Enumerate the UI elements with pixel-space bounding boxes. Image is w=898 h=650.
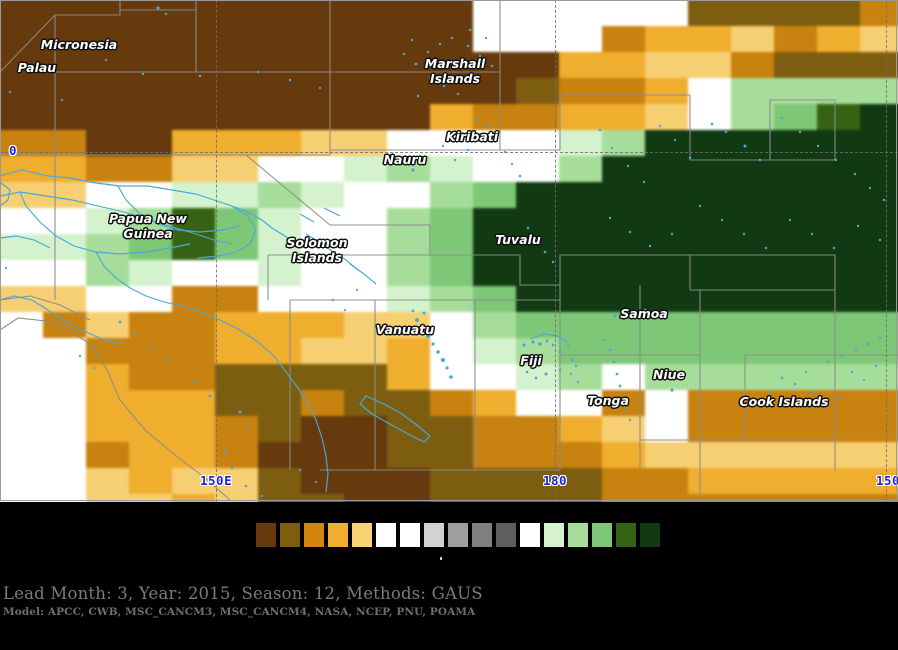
- raster-cell: [602, 156, 646, 183]
- raster-cell: [43, 130, 87, 157]
- raster-cell: [344, 78, 388, 105]
- raster-cell: [473, 78, 517, 105]
- raster-cell: [473, 26, 517, 53]
- raster-cell: [215, 494, 259, 502]
- raster-cell: [430, 130, 474, 157]
- raster-cell: [43, 468, 87, 495]
- legend-swatch-0: [255, 522, 277, 548]
- raster-cell: [172, 130, 216, 157]
- legend-swatch-16: [639, 522, 661, 548]
- raster-cell: [559, 104, 603, 131]
- raster-cell: [172, 468, 216, 495]
- raster-cell: [0, 130, 44, 157]
- raster-cell: [817, 52, 861, 79]
- legend-swatch-10: [495, 522, 517, 548]
- raster-cell: [344, 52, 388, 79]
- raster-cell: [258, 78, 302, 105]
- raster-cell: [817, 442, 861, 469]
- raster-cell: [129, 468, 173, 495]
- legend-swatch-row: [255, 522, 661, 548]
- raster-cell: [215, 104, 259, 131]
- raster-cell: [774, 260, 818, 287]
- raster-cell: [344, 390, 388, 417]
- raster-cell: [43, 52, 87, 79]
- raster-cell: [516, 208, 560, 235]
- raster-cell: [43, 364, 87, 391]
- raster-cell: [602, 416, 646, 443]
- raster-cell: [602, 260, 646, 287]
- raster-cell: [86, 338, 130, 365]
- raster-cell: [731, 130, 775, 157]
- raster-cell: [516, 156, 560, 183]
- raster-cell: [86, 286, 130, 313]
- raster-cell: [258, 156, 302, 183]
- raster-cell: [430, 78, 474, 105]
- raster-cell: [215, 390, 259, 417]
- raster-cell: [43, 286, 87, 313]
- raster-cell: [731, 416, 775, 443]
- raster-cell: [817, 338, 861, 365]
- raster-cell: [387, 208, 431, 235]
- raster-cell: [602, 208, 646, 235]
- raster-cell: [774, 364, 818, 391]
- raster-cell: [645, 156, 689, 183]
- raster-cell: [559, 286, 603, 313]
- raster-cell: [0, 338, 44, 365]
- raster-cell: [473, 52, 517, 79]
- raster-cell: [172, 312, 216, 339]
- raster-cell: [215, 260, 259, 287]
- raster-cell: [602, 312, 646, 339]
- raster-cell: [172, 364, 216, 391]
- raster-cell: [344, 416, 388, 443]
- raster-cell: [301, 390, 345, 417]
- raster-cell: [387, 390, 431, 417]
- raster-cell: [473, 364, 517, 391]
- raster-cell: [688, 494, 732, 502]
- raster-cell: [172, 234, 216, 261]
- seasonal-forecast-map-view: 150E1801500 MicronesiaPalauMarshallIslan…: [0, 0, 898, 650]
- raster-cell: [817, 390, 861, 417]
- raster-cell: [473, 442, 517, 469]
- raster-cell: [387, 494, 431, 502]
- raster-cell: [473, 260, 517, 287]
- raster-cell: [688, 52, 732, 79]
- raster-cell: [731, 390, 775, 417]
- raster-cell: [774, 130, 818, 157]
- raster-cell: [602, 104, 646, 131]
- raster-cell: [602, 26, 646, 53]
- raster-cell: [559, 338, 603, 365]
- raster-cell: [0, 156, 44, 183]
- raster-cell: [301, 208, 345, 235]
- raster-cell: [645, 312, 689, 339]
- legend-swatch-9: [471, 522, 493, 548]
- raster-cell: [473, 104, 517, 131]
- raster-cell: [731, 104, 775, 131]
- raster-cell: [301, 0, 345, 27]
- raster-cell: [688, 468, 732, 495]
- raster-cell: [516, 130, 560, 157]
- raster-cell: [602, 286, 646, 313]
- raster-cell: [817, 364, 861, 391]
- raster-cell: [731, 364, 775, 391]
- raster-cell: [817, 130, 861, 157]
- raster-cell: [645, 0, 689, 27]
- raster-cell: [215, 416, 259, 443]
- raster-cell: [559, 312, 603, 339]
- raster-cell: [86, 26, 130, 53]
- raster-cell: [43, 338, 87, 365]
- raster-cell: [301, 416, 345, 443]
- raster-cell: [860, 234, 898, 261]
- raster-cell: [688, 234, 732, 261]
- raster-cell: [516, 182, 560, 209]
- raster-cell: [602, 78, 646, 105]
- raster-cell: [43, 104, 87, 131]
- raster-cell: [817, 416, 861, 443]
- raster-cell: [215, 0, 259, 27]
- raster-cell: [387, 78, 431, 105]
- raster-cell: [774, 234, 818, 261]
- raster-cell: [860, 312, 898, 339]
- raster-cell: [473, 312, 517, 339]
- raster-cell: [387, 26, 431, 53]
- raster-cell: [129, 442, 173, 469]
- raster-cell: [817, 156, 861, 183]
- raster-cell: [731, 312, 775, 339]
- raster-cell: [344, 234, 388, 261]
- raster-cell: [817, 78, 861, 105]
- raster-cell: [129, 52, 173, 79]
- raster-cell: [473, 468, 517, 495]
- raster-cell: [129, 390, 173, 417]
- raster-cell: [774, 78, 818, 105]
- raster-cell: [430, 208, 474, 235]
- raster-cell: [172, 26, 216, 53]
- raster-cell: [215, 468, 259, 495]
- raster-cell: [817, 260, 861, 287]
- raster-cell: [559, 494, 603, 502]
- raster-cell: [129, 286, 173, 313]
- raster-cell: [0, 182, 44, 209]
- raster-cell: [172, 78, 216, 105]
- raster-cell: [731, 0, 775, 27]
- raster-cell: [301, 26, 345, 53]
- raster-cell: [774, 338, 818, 365]
- raster-cell: [774, 208, 818, 235]
- raster-cell: [43, 156, 87, 183]
- raster-cell: [215, 182, 259, 209]
- raster-cell: [645, 468, 689, 495]
- raster-cell: [516, 416, 560, 443]
- raster-cell: [172, 390, 216, 417]
- raster-cell: [258, 364, 302, 391]
- raster-cell: [0, 390, 44, 417]
- raster-cell: [258, 390, 302, 417]
- legend-swatch-15: [615, 522, 637, 548]
- raster-cell: [129, 0, 173, 27]
- raster-cell: [688, 286, 732, 313]
- raster-cell: [43, 182, 87, 209]
- raster-cell: [645, 494, 689, 502]
- raster-cell: [516, 52, 560, 79]
- raster-cell: [0, 468, 44, 495]
- raster-cell: [645, 364, 689, 391]
- raster-cell: [86, 104, 130, 131]
- raster-cell: [43, 260, 87, 287]
- raster-cell: [344, 468, 388, 495]
- raster-cell: [43, 442, 87, 469]
- raster-cell: [731, 234, 775, 261]
- raster-cell: [473, 130, 517, 157]
- raster-cell: [387, 0, 431, 27]
- raster-cell: [559, 78, 603, 105]
- raster-cell: [215, 208, 259, 235]
- raster-cell: [0, 234, 44, 261]
- raster-cell: [301, 364, 345, 391]
- raster-cell: [602, 0, 646, 27]
- raster-cell: [559, 260, 603, 287]
- raster-cell: [559, 156, 603, 183]
- raster-cell: [344, 208, 388, 235]
- raster-cell: [43, 208, 87, 235]
- raster-cell: [43, 26, 87, 53]
- legend-swatch-5: [375, 522, 397, 548]
- raster-cell: [215, 26, 259, 53]
- raster-cell: [559, 0, 603, 27]
- raster-cell: [387, 52, 431, 79]
- raster-cell: [473, 416, 517, 443]
- raster-cell: [86, 208, 130, 235]
- legend-swatch-13: [567, 522, 589, 548]
- raster-cell: [215, 442, 259, 469]
- raster-cell: [688, 78, 732, 105]
- raster-cell: [129, 104, 173, 131]
- raster-cell: [774, 494, 818, 502]
- raster-cell: [258, 182, 302, 209]
- raster-cell: [602, 130, 646, 157]
- raster-cell: [387, 312, 431, 339]
- raster-cell: [0, 416, 44, 443]
- raster-cell: [860, 104, 898, 131]
- raster-cell: [215, 78, 259, 105]
- raster-cell: [172, 260, 216, 287]
- raster-cell: [645, 104, 689, 131]
- raster-cell: [258, 104, 302, 131]
- raster-cell: [516, 468, 560, 495]
- raster-cell: [43, 416, 87, 443]
- raster-cell: [860, 156, 898, 183]
- raster-cell: [215, 286, 259, 313]
- raster-cell: [0, 312, 44, 339]
- raster-cell: [688, 156, 732, 183]
- raster-cell: [0, 52, 44, 79]
- raster-cell: [86, 78, 130, 105]
- legend-swatch-14: [591, 522, 613, 548]
- raster-cell: [473, 286, 517, 313]
- raster-cell: [817, 182, 861, 209]
- raster-cell: [129, 182, 173, 209]
- raster-cell: [688, 260, 732, 287]
- legend-swatch-2: [303, 522, 325, 548]
- raster-cell: [172, 286, 216, 313]
- raster-cell: [817, 468, 861, 495]
- raster-cell: [473, 234, 517, 261]
- raster-cell: [215, 312, 259, 339]
- raster-cell: [301, 286, 345, 313]
- raster-cell: [258, 130, 302, 157]
- raster-cell: [258, 234, 302, 261]
- raster-cell: [602, 234, 646, 261]
- raster-cell: [344, 364, 388, 391]
- raster-cell: [516, 0, 560, 27]
- raster-cell: [0, 286, 44, 313]
- raster-cell: [688, 312, 732, 339]
- raster-cell: [774, 312, 818, 339]
- raster-cell: [731, 338, 775, 365]
- raster-cell: [731, 208, 775, 235]
- raster-cell: [688, 130, 732, 157]
- raster-cell: [774, 286, 818, 313]
- raster-cell: [258, 416, 302, 443]
- raster-cell: [516, 260, 560, 287]
- raster-cell: [0, 78, 44, 105]
- raster-cell: [473, 494, 517, 502]
- raster-cell: [688, 208, 732, 235]
- raster-cell: [301, 156, 345, 183]
- raster-cell: [301, 130, 345, 157]
- raster-cell: [0, 364, 44, 391]
- raster-cell: [387, 442, 431, 469]
- raster-cell: [387, 234, 431, 261]
- raster-cell: [645, 208, 689, 235]
- raster-cell: [258, 0, 302, 27]
- raster-cell: [860, 442, 898, 469]
- raster-cell: [43, 78, 87, 105]
- raster-cell: [602, 182, 646, 209]
- raster-cell: [645, 182, 689, 209]
- raster-cell: [43, 0, 87, 27]
- raster-cell: [387, 468, 431, 495]
- raster-cell: [43, 312, 87, 339]
- raster-cell: [860, 416, 898, 443]
- raster-cell: [387, 338, 431, 365]
- raster-cell: [215, 234, 259, 261]
- raster-cell: [516, 312, 560, 339]
- raster-cell: [258, 286, 302, 313]
- raster-cell: [430, 26, 474, 53]
- raster-cell: [602, 494, 646, 502]
- raster-cell: [774, 468, 818, 495]
- raster-cell: [559, 468, 603, 495]
- map-panel[interactable]: 150E1801500 MicronesiaPalauMarshallIslan…: [0, 0, 898, 502]
- raster-cell: [688, 442, 732, 469]
- raster-cell: [258, 26, 302, 53]
- raster-cell: [43, 390, 87, 417]
- raster-cell: [301, 442, 345, 469]
- raster-cell: [774, 182, 818, 209]
- raster-cell: [258, 442, 302, 469]
- raster-cell: [129, 338, 173, 365]
- raster-cell: [817, 0, 861, 27]
- raster-cell: [430, 52, 474, 79]
- raster-cell: [430, 468, 474, 495]
- raster-cell: [688, 0, 732, 27]
- raster-cell: [516, 26, 560, 53]
- raster-cell: [387, 130, 431, 157]
- raster-cell: [344, 130, 388, 157]
- legend-swatch-7: [423, 522, 445, 548]
- raster-cell: [172, 338, 216, 365]
- raster-cell: [473, 208, 517, 235]
- raster-cell: [645, 338, 689, 365]
- raster-cell: [0, 442, 44, 469]
- raster-cell: [86, 494, 130, 502]
- raster-cell: [301, 182, 345, 209]
- raster-cell: [430, 234, 474, 261]
- legend-swatch-11: [519, 522, 541, 548]
- raster-cell: [817, 312, 861, 339]
- raster-cell: [86, 468, 130, 495]
- raster-cell: [129, 208, 173, 235]
- raster-cell: [602, 364, 646, 391]
- raster-cell: [817, 104, 861, 131]
- raster-cell: [731, 52, 775, 79]
- raster-cell: [559, 390, 603, 417]
- raster-cell: [516, 390, 560, 417]
- raster-cell: [86, 312, 130, 339]
- raster-cell: [301, 468, 345, 495]
- raster-cell: [301, 104, 345, 131]
- raster-cell: [344, 312, 388, 339]
- raster-cell: [172, 104, 216, 131]
- raster-cell: [688, 26, 732, 53]
- raster-cell: [860, 468, 898, 495]
- raster-cell: [731, 78, 775, 105]
- raster-cell: [559, 182, 603, 209]
- raster-cell: [731, 468, 775, 495]
- raster-cell: [387, 286, 431, 313]
- raster-cell: [774, 104, 818, 131]
- raster-cell: [559, 26, 603, 53]
- raster-cell: [688, 182, 732, 209]
- raster-cell: [86, 442, 130, 469]
- raster-cell: [688, 364, 732, 391]
- raster-cell: [731, 442, 775, 469]
- raster-cell: [430, 416, 474, 443]
- raster-cell: [688, 338, 732, 365]
- raster-cell: [774, 416, 818, 443]
- raster-cell: [430, 260, 474, 287]
- raster-cell: [344, 156, 388, 183]
- raster-cell: [645, 52, 689, 79]
- raster-cell: [129, 26, 173, 53]
- raster-cell: [774, 390, 818, 417]
- raster-cell: [172, 0, 216, 27]
- raster-cell: [344, 260, 388, 287]
- raster-cell: [602, 52, 646, 79]
- raster-cell: [172, 208, 216, 235]
- raster-cell: [559, 442, 603, 469]
- raster-cell: [430, 494, 474, 502]
- raster-cell: [215, 130, 259, 157]
- forecast-title: Lead Month: 3, Year: 2015, Season: 12, M…: [3, 584, 483, 603]
- raster-cell: [129, 312, 173, 339]
- raster-cell: [215, 364, 259, 391]
- raster-cell: [473, 0, 517, 27]
- raster-cell: [688, 390, 732, 417]
